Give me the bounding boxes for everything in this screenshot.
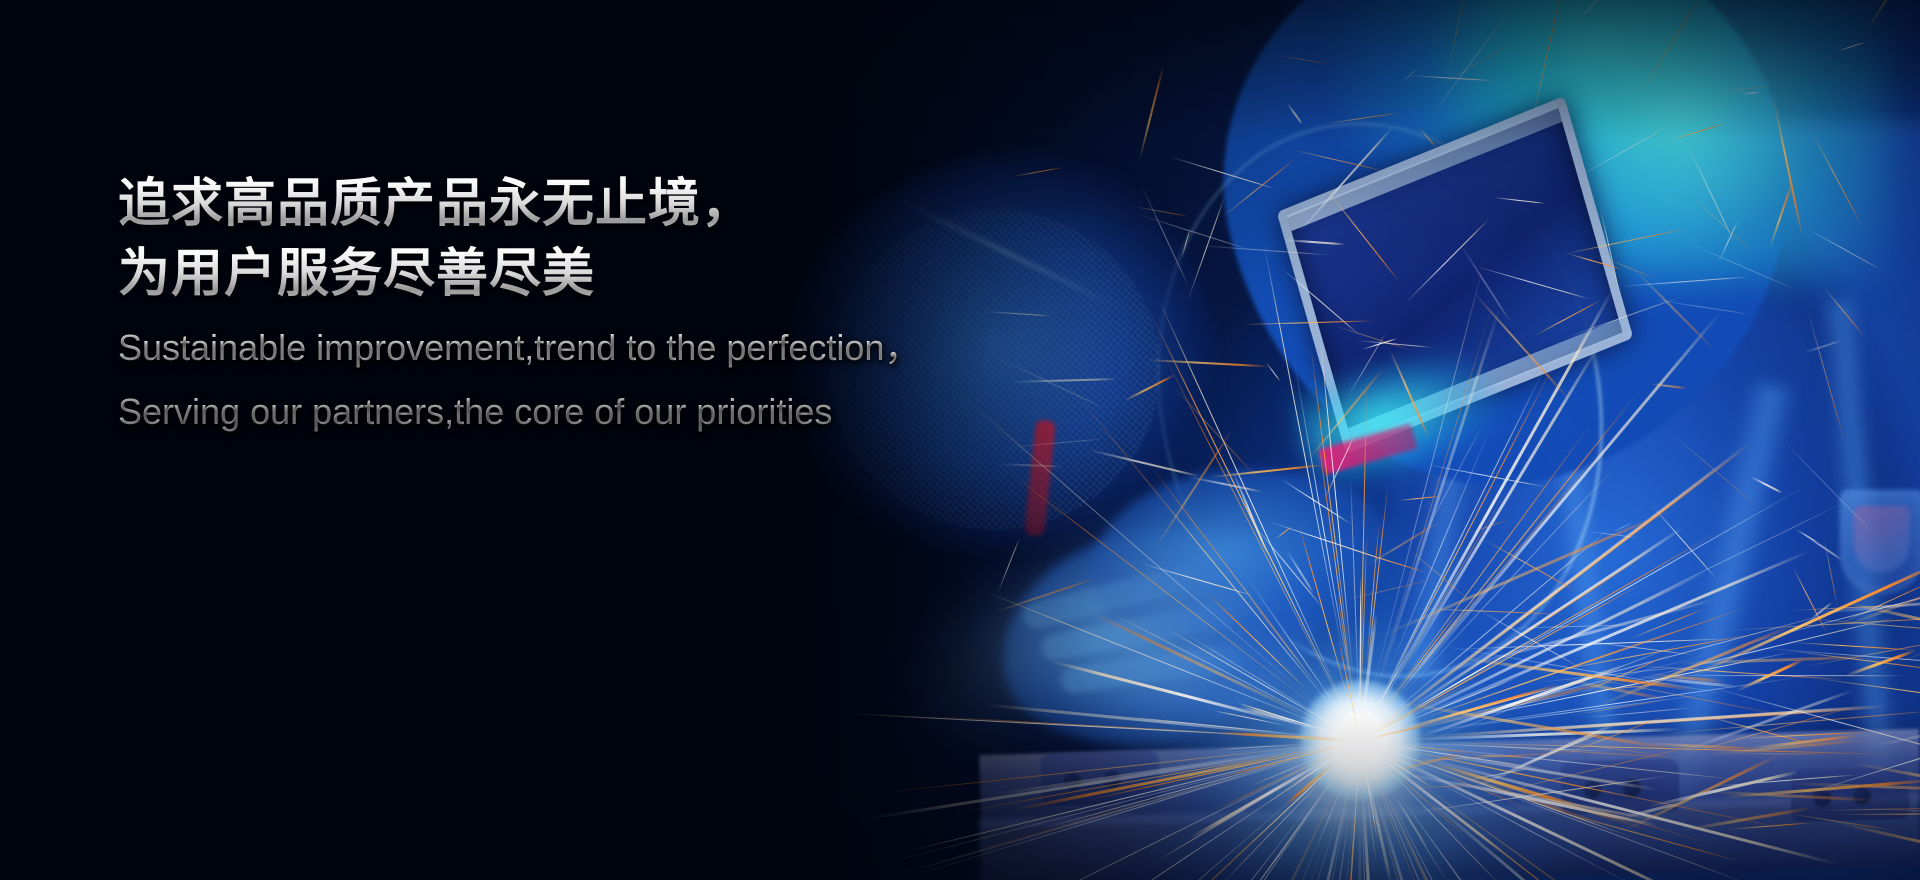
headline-line-1: 追求高品质产品永无止境， — [118, 170, 920, 240]
spark-streak — [1801, 532, 1842, 561]
spark-streak — [1822, 287, 1864, 338]
spark-streak — [1419, 127, 1438, 148]
spark-streak — [1285, 239, 1345, 246]
spark-streak — [1448, 0, 1468, 76]
subhead-line-2: Serving our partners,the core of our pri… — [118, 387, 920, 437]
spark-streak — [1139, 64, 1165, 159]
spark-streak — [1733, 753, 1829, 755]
spark-streak — [995, 356, 1107, 410]
spark-streak — [1750, 476, 1782, 494]
spark-streak — [1666, 675, 1905, 677]
spark-streak — [1263, 241, 1347, 668]
spark-streak — [1310, 346, 1351, 666]
spark-streak — [1002, 467, 1320, 710]
spark-streak — [1682, 240, 1799, 291]
spark-streak — [1718, 221, 1738, 262]
spark-streak — [1772, 97, 1803, 236]
spark-streak — [1769, 181, 1794, 249]
spark-streak — [1532, 0, 1563, 119]
spark-streak — [1562, 228, 1689, 255]
spark-streak — [1573, 0, 1609, 26]
spark-streak — [996, 463, 1063, 468]
hero-copy: 追求高品质产品永无止境， 为用户服务尽善尽美 Sustainable impro… — [118, 170, 920, 437]
spark-streak — [1147, 359, 1269, 368]
spark-streak — [1691, 196, 1756, 256]
spark-streak — [897, 748, 1328, 854]
headline-line-2: 为用户服务尽善尽美 — [118, 240, 920, 310]
spark-streak — [1154, 428, 1234, 550]
spark-streak — [1325, 187, 1401, 283]
spark-streak — [1232, 471, 1269, 554]
spark-streak — [1669, 122, 1727, 141]
spark-streak — [1793, 642, 1917, 651]
spark-streak — [994, 578, 1094, 613]
spark-streak — [997, 538, 1020, 593]
spark-streak — [1169, 156, 1275, 189]
welding-photo — [0, 0, 1920, 880]
spark-streak — [1431, 40, 1517, 90]
spark-streak — [1223, 158, 1297, 217]
spark-streak — [1168, 381, 1260, 482]
spark-streak — [1618, 276, 1748, 287]
spark-streak — [1836, 41, 1866, 52]
spark-streak — [1389, 350, 1430, 440]
spark-streak — [1429, 10, 1511, 120]
spark-streak — [1649, 770, 1799, 807]
spark-streak — [1811, 133, 1863, 228]
spark-streak — [1417, 755, 1841, 866]
spark-streak — [1869, 691, 1920, 747]
spark-streak — [1599, 207, 1619, 291]
spark-streak — [1013, 167, 1063, 177]
spark-streak — [1846, 649, 1917, 676]
spark-streak — [1806, 309, 1845, 443]
spark-streak — [1742, 91, 1760, 95]
spark-streak — [1006, 438, 1104, 448]
spark-streak — [1327, 112, 1401, 124]
spark-streak — [1533, 300, 1602, 338]
spark-streak — [1910, 758, 1920, 842]
spark-field — [0, 0, 1920, 880]
spark-streak — [1124, 374, 1176, 402]
spark-streak — [1563, 298, 1679, 340]
spark-streak — [1334, 325, 1412, 351]
spark-streak — [1373, 302, 1494, 694]
spark-streak — [1408, 75, 1494, 82]
spark-streak — [1011, 378, 1117, 383]
spark-streak — [1089, 449, 1200, 478]
spark-streak — [1726, 822, 1814, 830]
spark-streak — [1866, 0, 1913, 31]
spark-streak — [1279, 55, 1330, 65]
spark-streak — [1686, 141, 1735, 242]
spark-streak — [1799, 632, 1920, 669]
subhead-line-1: Sustainable improvement,trend to the per… — [118, 323, 920, 373]
spark-streak — [1459, 244, 1512, 324]
spark-streak — [1493, 197, 1546, 204]
spark-streak — [1280, 267, 1359, 335]
spark-streak — [1181, 230, 1190, 258]
spark-streak — [1836, 813, 1920, 815]
spark-streak — [1779, 436, 1875, 534]
hero-banner: 追求高品质产品永无止境， 为用户服务尽善尽美 Sustainable impro… — [0, 0, 1920, 880]
spark-streak — [1803, 340, 1842, 355]
spark-streak — [1368, 258, 1487, 709]
spark-streak — [1251, 521, 1324, 609]
spark-streak — [1139, 182, 1189, 287]
spark-streak — [1380, 287, 1615, 704]
spark-streak — [1286, 102, 1303, 125]
spark-streak — [1639, 0, 1706, 97]
spark-streak — [1713, 85, 1773, 93]
spark-streak — [1579, 125, 1670, 177]
spark-streak — [985, 311, 1051, 317]
spark-streak — [1804, 227, 1881, 270]
spark-streak — [1141, 563, 1253, 596]
spark-streak — [1832, 820, 1920, 880]
spark-streak — [1265, 362, 1280, 381]
spark-streak — [1138, 214, 1249, 250]
spark-streak — [1187, 198, 1224, 301]
spark-streak — [1242, 320, 1374, 325]
